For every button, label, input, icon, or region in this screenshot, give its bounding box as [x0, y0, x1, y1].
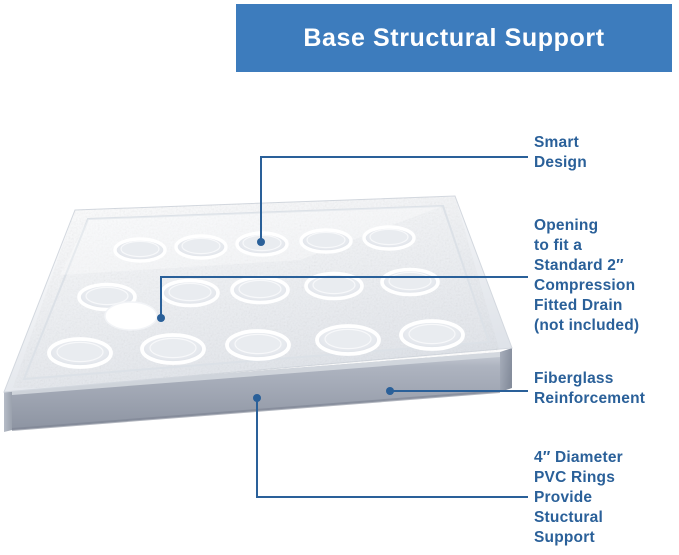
leader-dot-smart-design [257, 238, 265, 246]
pvc-ring [176, 236, 226, 258]
pvc-ring [317, 326, 379, 354]
page-title: Base Structural Support [303, 24, 604, 53]
pvc-ring [301, 230, 351, 252]
pvc-ring [227, 331, 289, 359]
pvc-ring [49, 339, 111, 367]
leader-dot-pvc-rings [253, 394, 261, 402]
pvc-ring [364, 227, 414, 249]
pvc-ring [401, 321, 463, 349]
callout-label-pvc-rings: 4″ Diameter PVC Rings Provide Stuctural … [534, 448, 623, 548]
drain-opening [105, 302, 157, 330]
pvc-ring [115, 239, 165, 261]
callout-label-fiberglass-reinforcement: Fiberglass Reinforcement [534, 369, 645, 409]
leader-dot-drain-opening [157, 314, 165, 322]
callout-label-drain-opening: Opening to fit a Standard 2″ Compression… [534, 216, 639, 336]
pvc-ring [162, 281, 218, 306]
pvc-ring [382, 270, 438, 295]
callout-label-smart-design: Smart Design [534, 133, 587, 173]
pvc-ring [232, 278, 288, 303]
leader-line-pvc-rings [257, 398, 527, 497]
diagram-canvas: Base Structural Support Smart Design Ope… [0, 0, 679, 555]
leader-dot-fiberglass [386, 387, 394, 395]
pvc-ring [142, 335, 204, 363]
header-banner: Base Structural Support [236, 4, 672, 72]
